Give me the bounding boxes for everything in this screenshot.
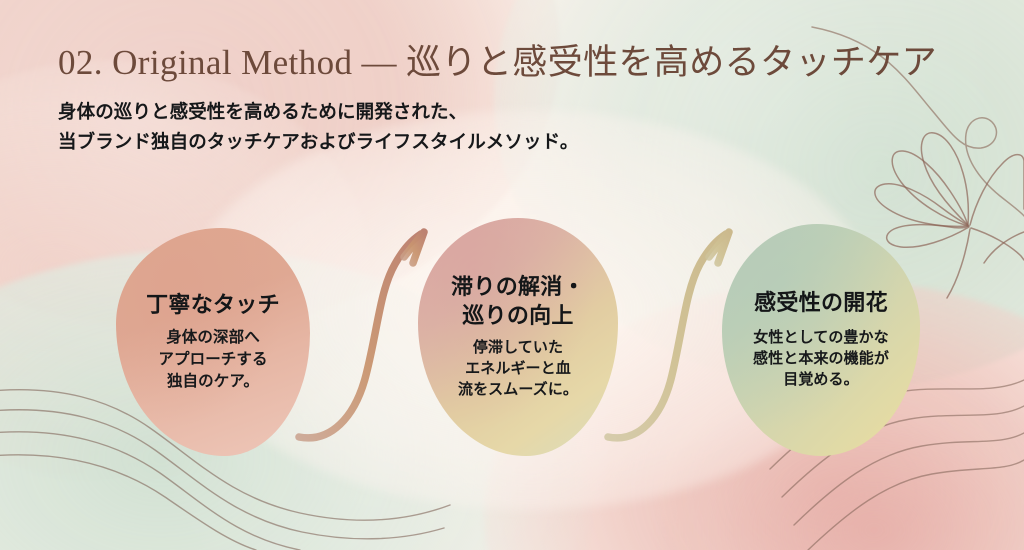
step-2-body: 停滞していた エネルギーと血 流をスムーズに。 [458, 337, 578, 401]
page-subtitle: 身体の巡りと感受性を高めるために開発された、 当ブランド独自のタッチケアおよびラ… [58, 97, 998, 157]
step-3-heading: 感受性の開花 [754, 289, 888, 318]
step-2-body-line-3: 流をスムーズに。 [458, 379, 578, 400]
process-steps: 丁寧なタッチ 身体の深部へ アプローチする 独自のケア。 滞りの解消・ 巡りの向… [0, 218, 1024, 468]
step-1-body-line-1: 身体の深部へ [158, 327, 267, 349]
step-1-body-line-2: アプローチする [158, 349, 267, 371]
page-title: 02. Original Method — 巡りと感受性を高めるタッチケア [58, 42, 998, 83]
slide-header: 02. Original Method — 巡りと感受性を高めるタッチケア 身体… [58, 42, 998, 157]
step-3-heading-line-1: 感受性の開花 [754, 289, 888, 318]
step-3-body-line-2: 感性と本来の機能が [753, 348, 889, 369]
step-blob-3[interactable]: 感受性の開花 女性としての豊かな 感性と本来の機能が 目覚める。 [722, 224, 920, 456]
step-3-body-line-3: 目覚める。 [753, 369, 889, 390]
subtitle-line-2: 当ブランド独自のタッチケアおよびライフスタイルメソッド。 [58, 127, 998, 157]
step-1-body-line-3: 独自のケア。 [158, 371, 267, 393]
step-1-body: 身体の深部へ アプローチする 独自のケア。 [158, 327, 267, 393]
step-2-heading-line-1: 滞りの解消・ [451, 273, 585, 302]
step-1-heading-line-1: 丁寧なタッチ [146, 291, 280, 320]
step-2-body-line-1: 停滞していた [458, 337, 578, 358]
slide-canvas: 02. Original Method — 巡りと感受性を高めるタッチケア 身体… [0, 0, 1024, 550]
step-2-heading-line-2: 巡りの向上 [451, 302, 585, 331]
step-2-heading: 滞りの解消・ 巡りの向上 [451, 273, 585, 330]
step-3-body-line-1: 女性としての豊かな [753, 327, 889, 348]
step-2-body-line-2: エネルギーと血 [458, 358, 578, 379]
subtitle-line-1: 身体の巡りと感受性を高めるために開発された、 [58, 97, 998, 127]
step-blob-1[interactable]: 丁寧なタッチ 身体の深部へ アプローチする 独自のケア。 [116, 228, 310, 456]
step-1-heading: 丁寧なタッチ [146, 291, 280, 320]
step-blob-2[interactable]: 滞りの解消・ 巡りの向上 停滞していた エネルギーと血 流をスムーズに。 [418, 218, 618, 456]
step-3-body: 女性としての豊かな 感性と本来の機能が 目覚める。 [753, 327, 889, 391]
